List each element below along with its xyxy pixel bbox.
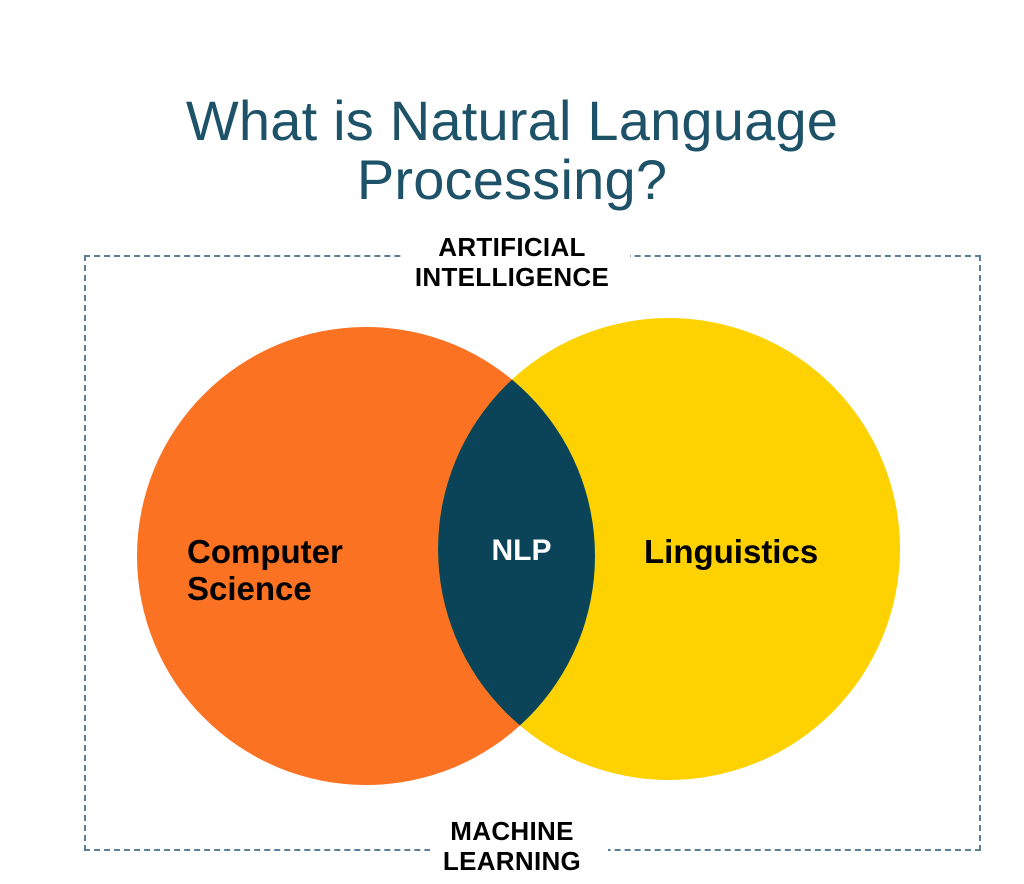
- boundary-caption-ml-line-2: LEARNING: [0, 846, 1024, 876]
- boundary-caption-machine-learning: MACHINE LEARNING: [0, 816, 1024, 876]
- boundary-caption-ai-line-1: ARTIFICIAL: [0, 232, 1024, 262]
- venn-label-linguistics: Linguistics: [644, 534, 904, 571]
- venn-label-computer-science-line-1: Computer: [187, 534, 447, 571]
- boundary-caption-artificial-intelligence: ARTIFICIAL INTELLIGENCE: [0, 232, 1024, 292]
- venn-diagram: [0, 0, 1024, 884]
- venn-label-computer-science-line-2: Science: [187, 571, 447, 608]
- boundary-caption-ml-line-1: MACHINE: [0, 816, 1024, 846]
- venn-label-linguistics-line-1: Linguistics: [644, 533, 818, 570]
- boundary-caption-ai-line-2: INTELLIGENCE: [0, 262, 1024, 292]
- venn-label-nlp: NLP: [455, 534, 588, 568]
- venn-label-computer-science: Computer Science: [187, 534, 447, 608]
- infographic-canvas: What is Natural Language Processing? Com…: [0, 0, 1024, 884]
